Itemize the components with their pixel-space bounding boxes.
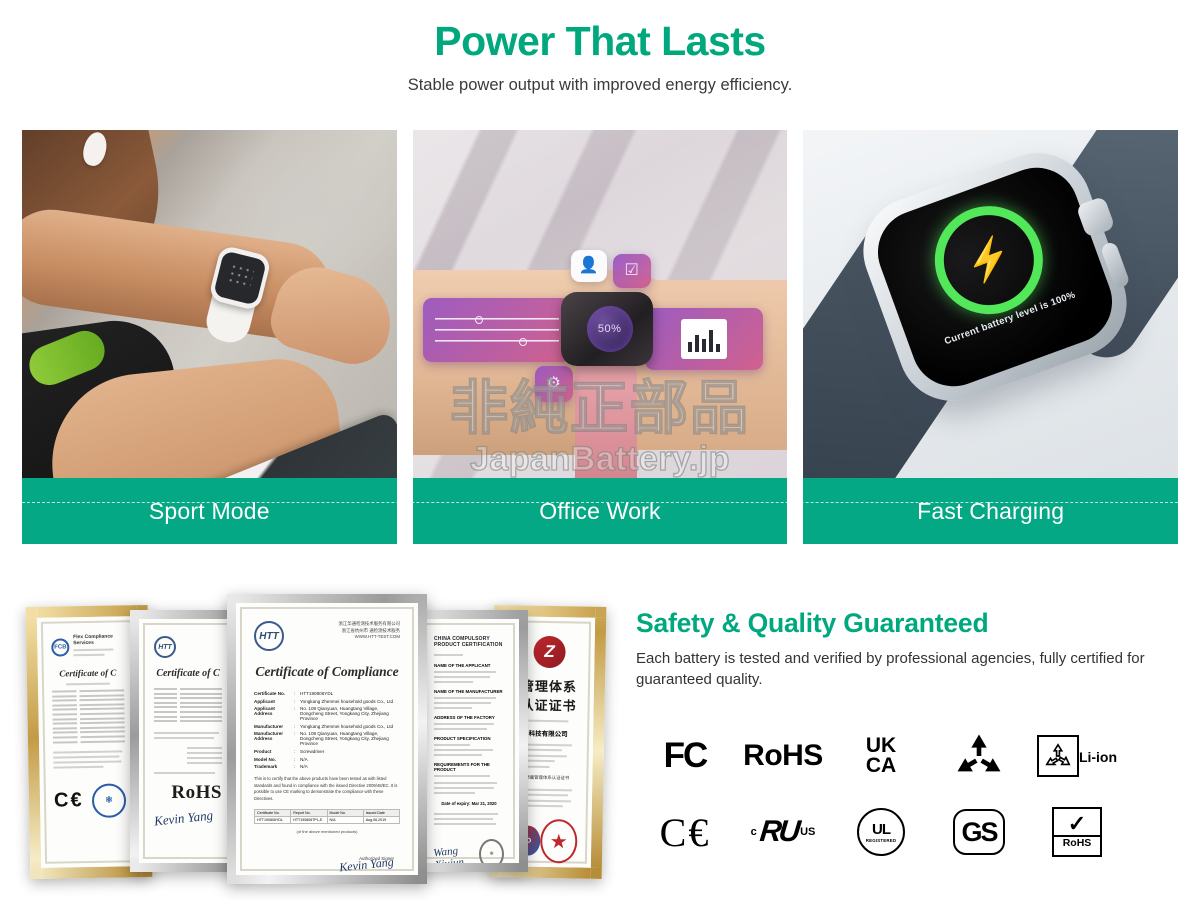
widget-sliders-icon [423, 298, 571, 362]
field-label: Certificate No. [254, 691, 294, 696]
certificate-china-compulsory: CHINA COMPULSORY PRODUCT CERTIFICATION N… [410, 610, 528, 872]
fcc-mark: FC [664, 736, 707, 776]
watch-screen: ⚡ Current battery level is 100% [866, 156, 1124, 398]
red-star-official-seal: ★ [540, 819, 578, 864]
cert-expiry: Date of expiry: Mar 21, 2020 [434, 801, 504, 806]
cert-org: Flex Compliance Services [73, 633, 123, 646]
recycle-arrows-icon [954, 733, 1004, 779]
culus-suffix: US [800, 826, 815, 838]
htt-logo-icon: HTT [254, 621, 284, 651]
fcb-badge-icon: FCB [51, 638, 69, 656]
field-label: PRODUCT SPECIFICATION [434, 736, 504, 741]
field-label: REQUIREMENTS FOR THE PRODUCT [434, 762, 504, 772]
signer-title: Kevin Yang/Service Manager [254, 877, 394, 881]
field-value: N/A [300, 764, 400, 769]
product-feature-page: Power That Lasts Stable power output wit… [0, 0, 1200, 900]
cert-title: Certificate of Compliance [254, 664, 400, 680]
feature-card-row: Sport Mode [22, 130, 1178, 544]
field-label: NAME OF THE APPLICANT [434, 663, 504, 668]
feature-card-label: Fast Charging [803, 478, 1178, 544]
signature: Kevin Yang [153, 807, 222, 830]
culus-mark: c RU US [751, 815, 816, 849]
rohs-mark: RoHS [743, 739, 823, 773]
field-value: No. 108 Qianyuan, Huangtang Village, Don… [300, 706, 400, 721]
rohs-mark-on-cert: RoHS [154, 782, 222, 804]
recycle-arrows-outline-icon [1043, 742, 1073, 770]
ukca-mark: UK CA [866, 736, 896, 776]
cert-org: CERTIFICATION CENTRE [434, 871, 504, 872]
widget-checkbox-icon: ☑ [613, 254, 651, 288]
field-label: Applicant Address [254, 706, 294, 721]
certification-seal: ⚛ [92, 783, 127, 818]
fcc-mark-label: FC [664, 736, 707, 776]
certification-section: FCB Flex Compliance Services Certificate… [0, 578, 1200, 900]
smartwatch-device: 50% [561, 292, 653, 366]
watch-strap-pink [575, 360, 637, 478]
certification-seal: ⚛ [479, 839, 504, 869]
cert-title: Certificate of C [52, 667, 124, 678]
widget-chart-icon [645, 308, 763, 370]
watch-battery-percent: 50% [598, 323, 622, 335]
z-certification-logo-icon: Z [533, 636, 566, 669]
ul-registered-mark: UL REGISTERED [857, 808, 905, 856]
cert-title: CHINA COMPULSORY PRODUCT CERTIFICATION [434, 636, 504, 648]
feature-card-sport-mode[interactable]: Sport Mode [22, 130, 397, 544]
cert-note: This is to certify that the above produc… [254, 776, 400, 802]
feature-card-fast-charging[interactable]: ⚡ Current battery level is 100% Fast Cha… [803, 130, 1178, 544]
field-label: Product [254, 749, 294, 754]
gs-label-box: GS [953, 809, 1005, 855]
field-label: ADDRESS OF THE FACTORY [434, 715, 504, 720]
ukca-line-2: CA [866, 756, 896, 776]
li-ion-label: Li-ion [1079, 749, 1117, 765]
field-value: Yongkang Zhenmei household goods Co., Lt… [300, 724, 400, 729]
gs-label: GS [961, 817, 996, 848]
recycling-mark [954, 733, 1004, 779]
rohs-tick-label: RoHS [1054, 835, 1100, 849]
signature: Wang Xiujun [433, 843, 481, 872]
rohs-mark-label: RoHS [743, 739, 823, 773]
fast-charging-photo: ⚡ Current battery level is 100% [803, 130, 1178, 478]
ce-mark-label: C€ [660, 809, 711, 856]
safety-quality-block: Safety & Quality Guaranteed Each battery… [636, 608, 1176, 691]
rohs-tick-mark: ✓ RoHS [1052, 807, 1102, 857]
li-ion-recycle-mark: Li-ion [1037, 735, 1117, 777]
feature-card-label: Sport Mode [22, 478, 397, 544]
widget-gear-icon: ⚙ [535, 366, 573, 402]
field-value: HTT190806YDL [300, 691, 400, 696]
page-title: Power That Lasts [0, 18, 1200, 65]
watermark-dashed-line [22, 502, 1178, 503]
culus-ru-glyph: RU [758, 815, 799, 849]
ul-label: UL [872, 821, 890, 838]
safety-description: Each battery is tested and verified by p… [636, 648, 1176, 691]
field-value: No. 108 Qianyuan, Huangtang Village, Don… [300, 731, 400, 746]
watch-app-grid-icon [226, 262, 255, 289]
sport-mode-photo [22, 130, 397, 478]
field-label: NAME OF THE MANUFACTURER [434, 689, 504, 694]
culus-prefix: c [751, 826, 757, 838]
htt-logo-icon: HTT [154, 636, 176, 658]
field-label: Manufacturer Address [254, 731, 294, 746]
certification-mark-grid: FC RoHS UK CA [636, 720, 1126, 868]
page-subtitle: Stable power output with improved energy… [0, 76, 1200, 95]
cert-title: Certificate of C [154, 668, 222, 679]
field-label: Applicant [254, 699, 294, 704]
ce-mark: C€ [660, 809, 711, 856]
feature-card-label: Office Work [413, 478, 788, 544]
page-header: Power That Lasts Stable power output wit… [0, 0, 1200, 95]
safety-title: Safety & Quality Guaranteed [636, 608, 1176, 639]
field-label: Trademark [254, 764, 294, 769]
field-label: Manufacturer [254, 724, 294, 729]
field-value: Yongkang Zhenmei household goods Co., Lt… [300, 699, 400, 704]
office-work-photo: ☑ ⚙ 👤 50% [413, 130, 788, 478]
checkmark-icon: ✓ [1068, 815, 1086, 833]
certificate-of-compliance-main: HTT 浙江华通检测技术服务有限公司 浙江省杭州市 通检测技术服务 WWW.HT… [227, 594, 427, 884]
lightning-bolt-icon: ⚡ [960, 234, 1017, 286]
widget-contact-card-icon: 👤 [571, 250, 607, 282]
gs-mark: GS [953, 809, 1005, 855]
li-ion-box-icon [1037, 735, 1079, 777]
cert-header-chinese: 浙江华通检测技术服务有限公司 浙江省杭州市 通检测技术服务 WWW.HTT-TE… [309, 621, 400, 641]
field-value: N/A [300, 757, 400, 762]
feature-card-office-work[interactable]: ☑ ⚙ 👤 50% Office Work [413, 130, 788, 544]
watch-battery-dial: 50% [587, 306, 633, 352]
watch-screen [213, 250, 267, 305]
certificate-collage: FCB Flex Compliance Services Certificate… [22, 588, 602, 888]
field-label: Model No. [254, 757, 294, 762]
ul-sublabel: REGISTERED [866, 838, 897, 843]
field-value: Screwdriver [300, 749, 400, 754]
ce-mark-on-cert: C€ [54, 789, 84, 813]
ukca-line-1: UK [866, 736, 896, 756]
